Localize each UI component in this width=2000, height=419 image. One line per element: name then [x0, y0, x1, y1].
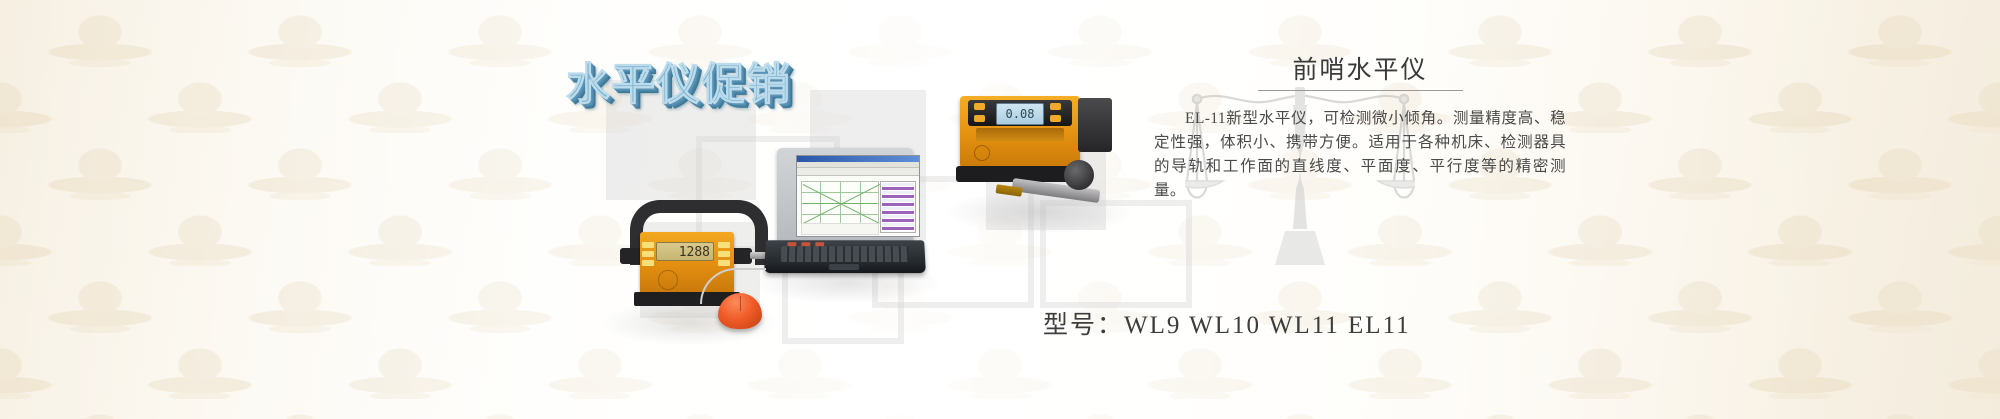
- device-button: [718, 260, 730, 266]
- heading-divider: [1258, 90, 1463, 91]
- device-button: [718, 251, 730, 257]
- device-lcd-display: 1288: [656, 242, 714, 261]
- device-accessory-block: [1078, 98, 1112, 152]
- device-button: [1050, 115, 1061, 122]
- product-mouse: [718, 293, 762, 329]
- laptop-screen: [796, 155, 920, 237]
- measurement-plot: [801, 181, 879, 226]
- device-logo-icon: [658, 270, 678, 290]
- device-handle-slot: [976, 128, 1064, 141]
- device-button: [1050, 103, 1061, 110]
- product-digital-level-right: 0.08: [952, 88, 1122, 203]
- product-banner: 水平仪促销 1288: [0, 0, 2000, 419]
- plot-legend: [801, 223, 879, 235]
- promo-title: 水平仪促销: [566, 48, 791, 112]
- laptop-keyboard-deck: [764, 240, 926, 273]
- device-logo-icon: [974, 145, 990, 161]
- app-workspace: [797, 176, 919, 237]
- device-accessory-gauge: [1064, 160, 1094, 190]
- brand-heading: 前哨水平仪: [1150, 50, 1570, 90]
- results-panel: [880, 181, 916, 233]
- device-lcd-display: 0.08: [996, 103, 1044, 125]
- app-toolbar: [797, 168, 919, 176]
- device-button: [974, 115, 985, 122]
- device-button: [974, 103, 985, 110]
- device-button: [718, 242, 730, 248]
- model-numbers: 型号：WL9 WL10 WL11 EL11: [1043, 305, 1411, 341]
- laptop-keyboard: [781, 246, 909, 262]
- device-button: [642, 260, 654, 266]
- product-info: 前哨水平仪 EL-11新型水平仪，可检测微小倾角。测量精度高、稳定性强，体积小、…: [1150, 50, 1570, 203]
- product-description: EL-11新型水平仪，可检测微小倾角。测量精度高、稳定性强，体积小、携带方便。适…: [1150, 107, 1570, 203]
- device-button: [642, 242, 654, 248]
- product-laptop: [765, 148, 925, 273]
- mouse-button-split: [740, 296, 741, 311]
- device-button: [642, 251, 654, 257]
- laptop-lid: [777, 148, 913, 244]
- laptop-touchpad: [829, 264, 859, 270]
